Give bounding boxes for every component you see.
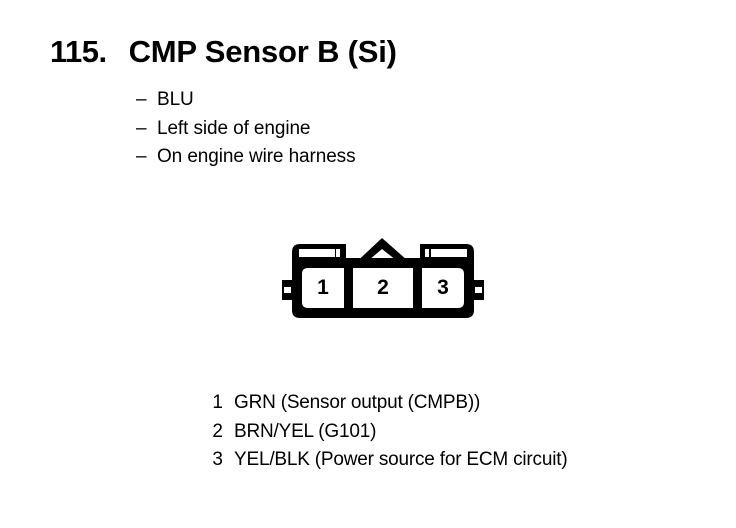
left-side-ear-notch <box>284 287 291 293</box>
dash-icon: – <box>136 143 157 172</box>
legend-row: 1 GRN (Sensor output (CMPB)) <box>207 389 567 418</box>
cavity-number-3: 3 <box>437 276 449 299</box>
cavity-number-1: 1 <box>317 276 329 299</box>
legend-pin-number: 2 <box>207 418 223 447</box>
note-label: On engine wire harness <box>157 143 355 172</box>
connector-svg: 1 2 3 <box>278 232 488 328</box>
dash-icon: – <box>136 86 157 115</box>
legend-pin-description: BRN/YEL (G101) <box>234 418 376 447</box>
legend-pin-number: 3 <box>207 446 223 475</box>
list-item: – On engine wire harness <box>136 143 355 172</box>
right-tab-slot <box>431 249 467 257</box>
dash-icon: – <box>136 115 157 144</box>
cavity-number-2: 2 <box>377 276 389 299</box>
list-item: – BLU <box>136 86 355 115</box>
page-title-number: 115. <box>50 34 107 70</box>
connector-diagram: 1 2 3 <box>278 232 488 333</box>
legend-row: 3 YEL/BLK (Power source for ECM circuit) <box>207 446 567 475</box>
left-tab-slot <box>299 249 335 257</box>
pin-legend: 1 GRN (Sensor output (CMPB)) 2 BRN/YEL (… <box>207 389 567 475</box>
legend-pin-description: YEL/BLK (Power source for ECM circuit) <box>234 446 567 475</box>
legend-pin-description: GRN (Sensor output (CMPB)) <box>234 389 480 418</box>
list-item: – Left side of engine <box>136 115 355 144</box>
legend-pin-number: 1 <box>207 389 223 418</box>
right-tab-notch <box>425 249 429 257</box>
page-title-text: CMP Sensor B (Si) <box>129 34 397 70</box>
page-title: 115. CMP Sensor B (Si) <box>50 34 397 70</box>
left-tab-notch <box>336 249 340 257</box>
legend-row: 2 BRN/YEL (G101) <box>207 418 567 447</box>
note-label: Left side of engine <box>157 115 310 144</box>
lock-tab-slots <box>299 249 467 257</box>
notes-list: – BLU – Left side of engine – On engine … <box>136 86 355 172</box>
note-label: BLU <box>157 86 194 115</box>
right-side-ear-notch <box>475 287 482 293</box>
